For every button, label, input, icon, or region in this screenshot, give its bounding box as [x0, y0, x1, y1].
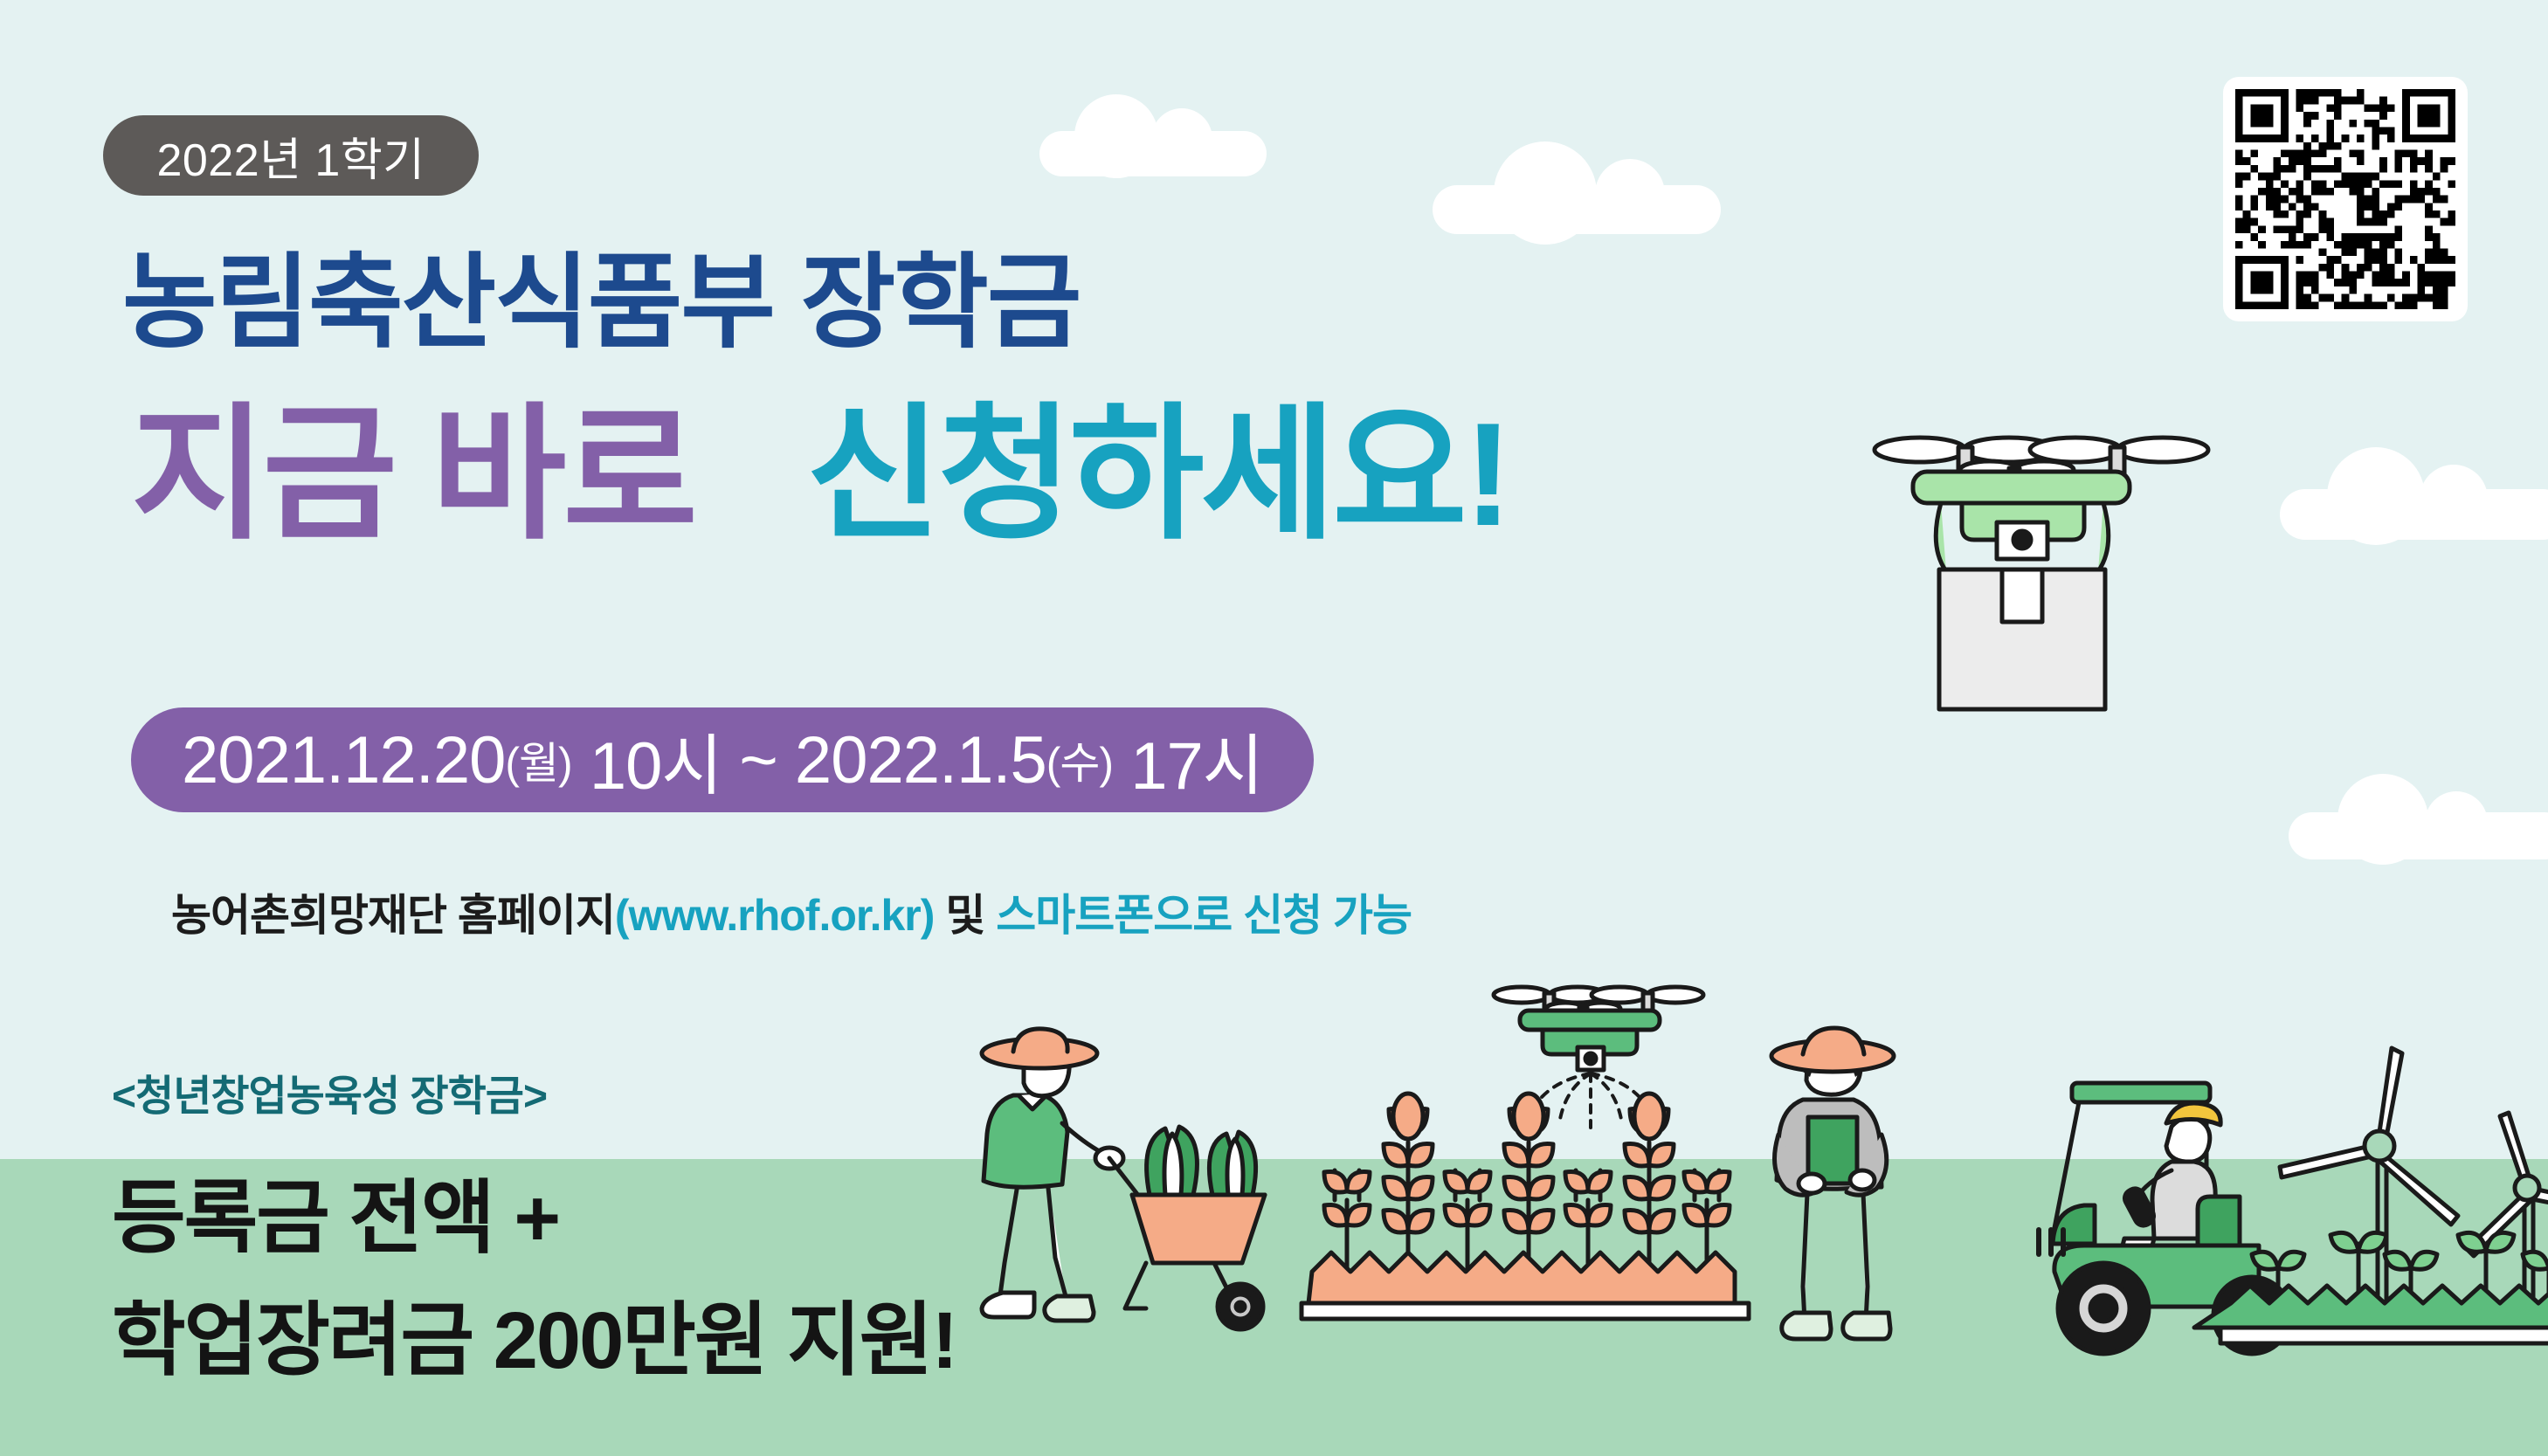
headline-line-1-text: 농림축산식품부 장학금 [122, 245, 1080, 361]
benefit-line-1-text: 등록금 전액 + [112, 1174, 559, 1263]
application-period-pill: 2021.12.20 (월) 10시 ~ 2022.1.5 (수) 17시 [131, 707, 1314, 812]
qr-code[interactable] [2223, 77, 2468, 321]
start-day: (월) [505, 728, 571, 791]
spray-drone-icon [1494, 987, 1703, 1128]
channel-conjunction: 및 [945, 891, 984, 940]
scholarship-promo-poster: 2022년 1학기 농림축산식품부 장학금 지금 바로 신청하세요! 2021.… [0, 0, 2548, 1456]
benefit-line-1: 등록금 전액 + [112, 1153, 559, 1269]
foundation-url[interactable]: (www.rhof.or.kr) [615, 891, 935, 940]
end-date: 2022.1.5 [795, 722, 1046, 798]
mobile-channel-text: 스마트폰으로 신청 가능 [996, 891, 1412, 940]
cloud-icon [2280, 489, 2548, 540]
end-time: 17시 [1130, 712, 1262, 808]
program-subhead-text: <청년창업농육성 장학금> [112, 1073, 547, 1120]
foundation-name: 농어촌희망재단 홈페이지 [171, 891, 615, 940]
period-separator: ~ [739, 722, 777, 798]
headline-line-2: 지금 바로 신청하세요! [131, 397, 1509, 551]
headline-line-2-purple: 지금 바로 [131, 392, 694, 556]
program-subhead: <청년창업농육성 장학금> [112, 1061, 547, 1122]
semester-badge: 2022년 1학기 [103, 115, 479, 196]
start-time: 10시 [590, 712, 722, 808]
headline-line-1: 농림축산식품부 장학금 [122, 250, 1080, 358]
cloud-icon [1039, 131, 1267, 176]
cloud-icon [1433, 185, 1721, 234]
cloud-icon [2289, 812, 2548, 859]
application-channel-line: 농어촌희망재단 홈페이지(www.rhof.or.kr) 및 스마트폰으로 신청… [171, 880, 1412, 943]
end-day: (수) [1046, 728, 1113, 791]
start-date: 2021.12.20 [182, 722, 505, 798]
qr-code-image [2235, 89, 2455, 309]
delivery-drone-icon [1875, 438, 2208, 709]
benefit-line-2: 학업장려금 200만원 지원! [112, 1275, 956, 1391]
semester-badge-label: 2022년 1학기 [156, 123, 425, 189]
benefit-line-2-text: 학업장려금 200만원 지원! [112, 1296, 956, 1385]
headline-line-2-teal: 신청하세요! [806, 392, 1509, 556]
